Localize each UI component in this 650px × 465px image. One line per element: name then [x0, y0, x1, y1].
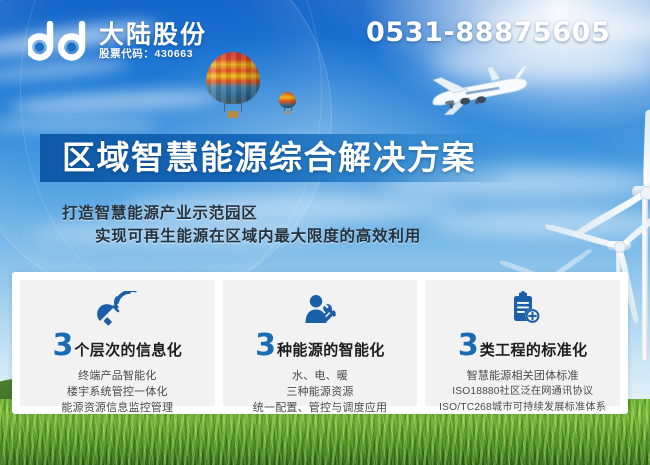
card-detail-lines: 智慧能源相关团体标准 ISO18880社区泛在网通讯协议 ISO/TC268城市…	[439, 368, 606, 416]
stock-code: 股票代码：430663	[99, 49, 207, 60]
card-detail-line: ISO/TC268城市可持续发展标准体系	[439, 400, 606, 416]
subtitle-line-2: 实现可再生能源在区域内最大限度的高效利用	[95, 224, 421, 246]
card-number: 3	[458, 331, 479, 361]
card-title: 类工程的标准化	[480, 343, 588, 358]
feature-card-informatization[interactable]: 3 个层次的信息化 终端产品智能化 楼宇系统管控一体化 能源资源信息监控管理	[20, 280, 215, 406]
brand-logo[interactable]: 大陆股份 股票代码：430663	[28, 21, 207, 61]
hot-air-balloon-small-icon	[279, 92, 296, 115]
card-title: 种能源的智能化	[277, 343, 385, 358]
page-title: 区域智慧能源综合解决方案	[62, 139, 476, 177]
card-detail-lines: 水、电、暖 三种能源资源 统一配置、管控与调度应用	[253, 368, 387, 416]
card-heading: 3 种能源的智能化	[255, 331, 385, 361]
feature-panel: 3 个层次的信息化 终端产品智能化 楼宇系统管控一体化 能源资源信息监控管理	[12, 272, 628, 414]
card-detail-line: 智慧能源相关团体标准	[439, 368, 606, 384]
phone-number[interactable]: 0531-88875605	[366, 17, 610, 48]
person-with-tools-icon	[299, 291, 341, 327]
card-heading: 3 类工程的标准化	[458, 331, 588, 361]
feature-card-energy-intelligence[interactable]: 3 种能源的智能化 水、电、暖 三种能源资源 统一配置、管控与调度应用	[223, 280, 418, 406]
clipboard-plus-icon	[502, 291, 544, 327]
card-detail-line: 水、电、暖	[253, 368, 387, 384]
card-detail-lines: 终端产品智能化 楼宇系统管控一体化 能源资源信息监控管理	[61, 368, 173, 416]
brand-name: 大陆股份	[99, 23, 207, 48]
card-title: 个层次的信息化	[74, 343, 182, 358]
card-detail-line: ISO18880社区泛在网通讯协议	[439, 384, 606, 400]
feature-card-standardization[interactable]: 3 类工程的标准化 智慧能源相关团体标准 ISO18880社区泛在网通讯协议 I…	[425, 280, 620, 406]
card-number: 3	[52, 331, 73, 361]
hot-air-balloon-icon	[206, 52, 260, 118]
subtitle-line-1: 打造智慧能源产业示范园区	[62, 201, 258, 223]
satellite-dish-icon	[96, 291, 138, 327]
card-heading: 3 个层次的信息化	[52, 331, 182, 361]
db-monogram-logo-icon	[28, 21, 90, 61]
card-detail-line: 能源资源信息监控管理	[61, 400, 173, 416]
card-number: 3	[255, 331, 276, 361]
airplane-icon	[424, 66, 534, 120]
card-detail-line: 三种能源资源	[253, 384, 387, 400]
card-detail-line: 终端产品智能化	[61, 368, 173, 384]
promo-poster: 大陆股份 股票代码：430663 0531-88875605	[0, 0, 650, 465]
card-detail-line: 统一配置、管控与调度应用	[253, 400, 387, 416]
card-detail-line: 楼宇系统管控一体化	[61, 384, 173, 400]
